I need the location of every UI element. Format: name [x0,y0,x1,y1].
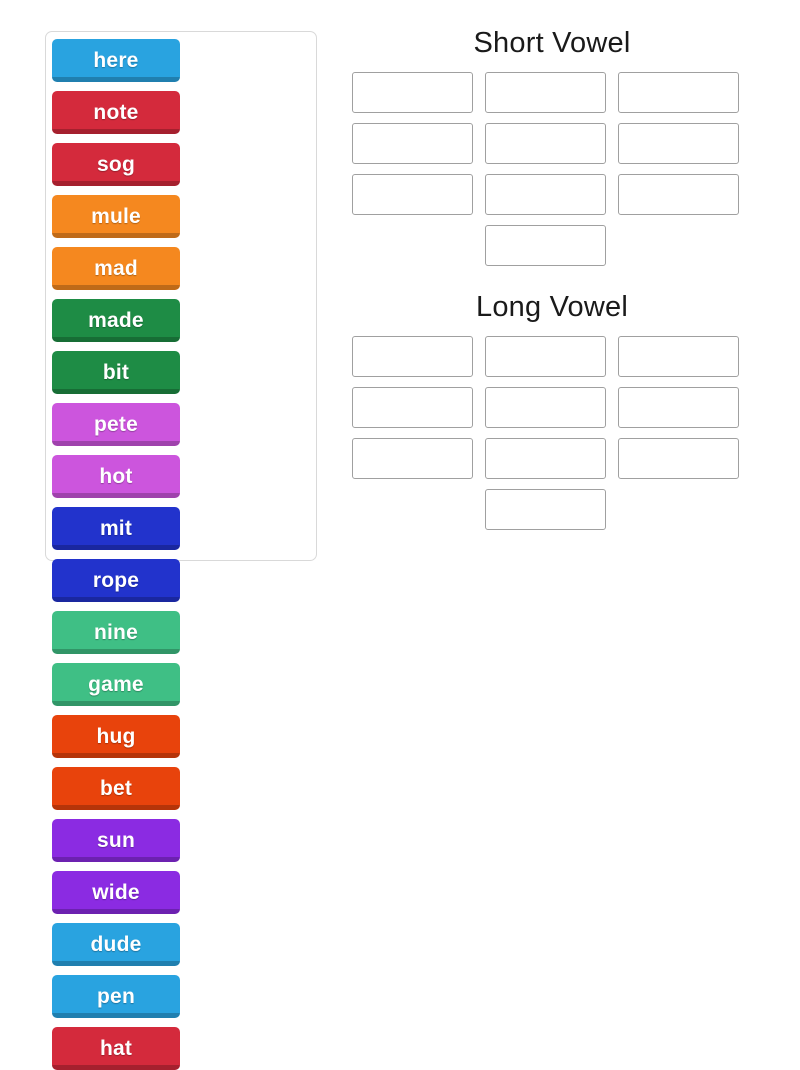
word-tile[interactable]: sog [52,143,180,186]
drop-zone[interactable] [485,174,606,215]
drop-zone[interactable] [352,123,473,164]
drop-zone[interactable] [485,387,606,428]
word-tile-label: note [93,102,138,123]
drop-zone[interactable] [485,336,606,377]
word-tile-label: wide [92,882,139,903]
word-tile-label: made [88,310,144,331]
word-tile[interactable]: made [52,299,180,342]
word-tile[interactable]: hat [52,1027,180,1070]
drop-zone[interactable] [618,123,739,164]
word-bank-panel: herenotesogmulemadmadebitpetehotmitropen… [45,31,317,561]
word-tile-label: pen [97,986,135,1007]
group-title: Long Vowel [352,292,752,324]
word-tile[interactable]: wide [52,871,180,914]
word-tile[interactable]: pete [52,403,180,446]
word-tile-label: hug [96,726,135,747]
drop-zone[interactable] [352,72,473,113]
drop-zone[interactable] [485,489,606,530]
word-tile-label: pete [94,414,138,435]
drop-zone[interactable] [485,72,606,113]
word-tile-label: hat [100,1038,132,1059]
drop-zone[interactable] [352,174,473,215]
groups-panel: Short VowelLong Vowel [352,28,752,530]
word-tile-label: rope [93,570,139,591]
word-tile[interactable]: bet [52,767,180,810]
drop-zone[interactable] [485,438,606,479]
word-tile-label: hot [99,466,132,487]
word-tile-label: here [93,50,138,71]
word-tile-label: nine [94,622,138,643]
group: Long Vowel [352,292,752,530]
word-tile-label: mad [94,258,138,279]
word-tile[interactable]: dude [52,923,180,966]
word-tile-label: sog [97,154,135,175]
drop-zone[interactable] [485,123,606,164]
word-tile-label: game [88,674,144,695]
drop-zone-grid [352,72,752,266]
drop-zone[interactable] [618,387,739,428]
word-tile-label: bit [103,362,129,383]
word-tile[interactable]: mule [52,195,180,238]
word-tile[interactable]: note [52,91,180,134]
word-tile[interactable]: nine [52,611,180,654]
drop-zone-grid [352,336,752,530]
drop-zone[interactable] [618,336,739,377]
word-tile-label: dude [91,934,142,955]
word-tile[interactable]: hug [52,715,180,758]
group-title: Short Vowel [352,28,752,60]
word-tile[interactable]: hot [52,455,180,498]
drop-zone[interactable] [618,72,739,113]
word-tile[interactable]: bit [52,351,180,394]
drop-zone[interactable] [352,387,473,428]
group: Short Vowel [352,28,752,266]
word-tile[interactable]: rope [52,559,180,602]
drop-zone[interactable] [485,225,606,266]
drop-zone[interactable] [618,174,739,215]
word-tile[interactable]: pen [52,975,180,1018]
word-tile-label: mit [100,518,132,539]
word-tile-label: sun [97,830,135,851]
drop-zone[interactable] [352,336,473,377]
word-tile[interactable]: here [52,39,180,82]
drop-zone[interactable] [618,438,739,479]
word-tile[interactable]: mit [52,507,180,550]
word-tile[interactable]: game [52,663,180,706]
word-tile-label: bet [100,778,132,799]
word-tile[interactable]: sun [52,819,180,862]
drop-zone[interactable] [352,438,473,479]
word-tile[interactable]: mad [52,247,180,290]
word-tile-label: mule [91,206,141,227]
